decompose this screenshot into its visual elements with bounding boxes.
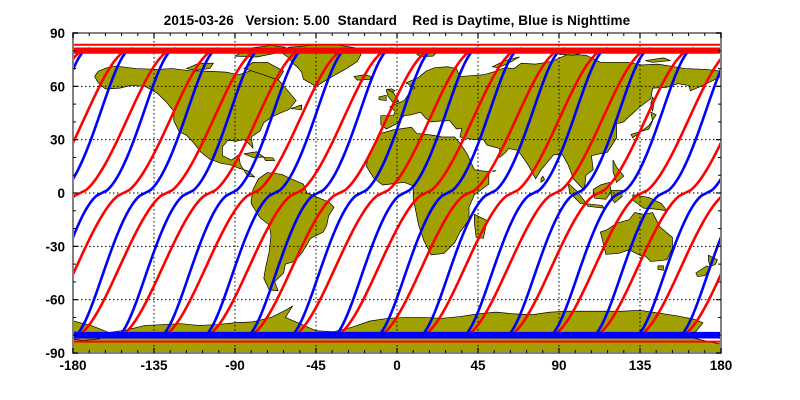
nighttime-track-4	[0, 49, 46, 338]
nighttime-track-14	[763, 49, 800, 338]
ytick-label-60: 60	[50, 79, 65, 94]
ytick-label-90: 90	[50, 26, 65, 41]
ytick-label-30: 30	[50, 133, 65, 148]
xtick-label--45: -45	[306, 358, 326, 373]
ytick-label--60: -60	[45, 293, 65, 308]
ytick-label-0: 0	[57, 186, 65, 201]
xtick-label--90: -90	[225, 358, 245, 373]
satellite-ground-track-figure: 2015-03-26 Version: 5.00 Standard Red is…	[0, 0, 800, 400]
ytick-label--90: -90	[45, 346, 65, 361]
daytime-track-14	[720, 49, 800, 338]
xtick-label--135: -135	[140, 358, 168, 373]
xtick-label-90: 90	[551, 358, 566, 373]
ytick-label--30: -30	[45, 239, 65, 254]
xtick-label-0: 0	[393, 358, 401, 373]
xtick-label-135: 135	[629, 358, 652, 373]
landmass-hispaniola	[264, 157, 275, 160]
nighttime-track-15	[720, 49, 800, 338]
xtick-label-45: 45	[470, 358, 486, 373]
daytime-track-13	[763, 49, 800, 338]
xtick-label-180: 180	[710, 358, 733, 373]
nighttime-track-5	[0, 49, 2, 338]
ground-track-plot: -180-135-90-4504590135180-90-60-30030609…	[0, 0, 800, 400]
daytime-track-4	[0, 49, 46, 338]
daytime-track-5	[0, 49, 2, 338]
landmass-tasmania	[658, 266, 663, 270]
